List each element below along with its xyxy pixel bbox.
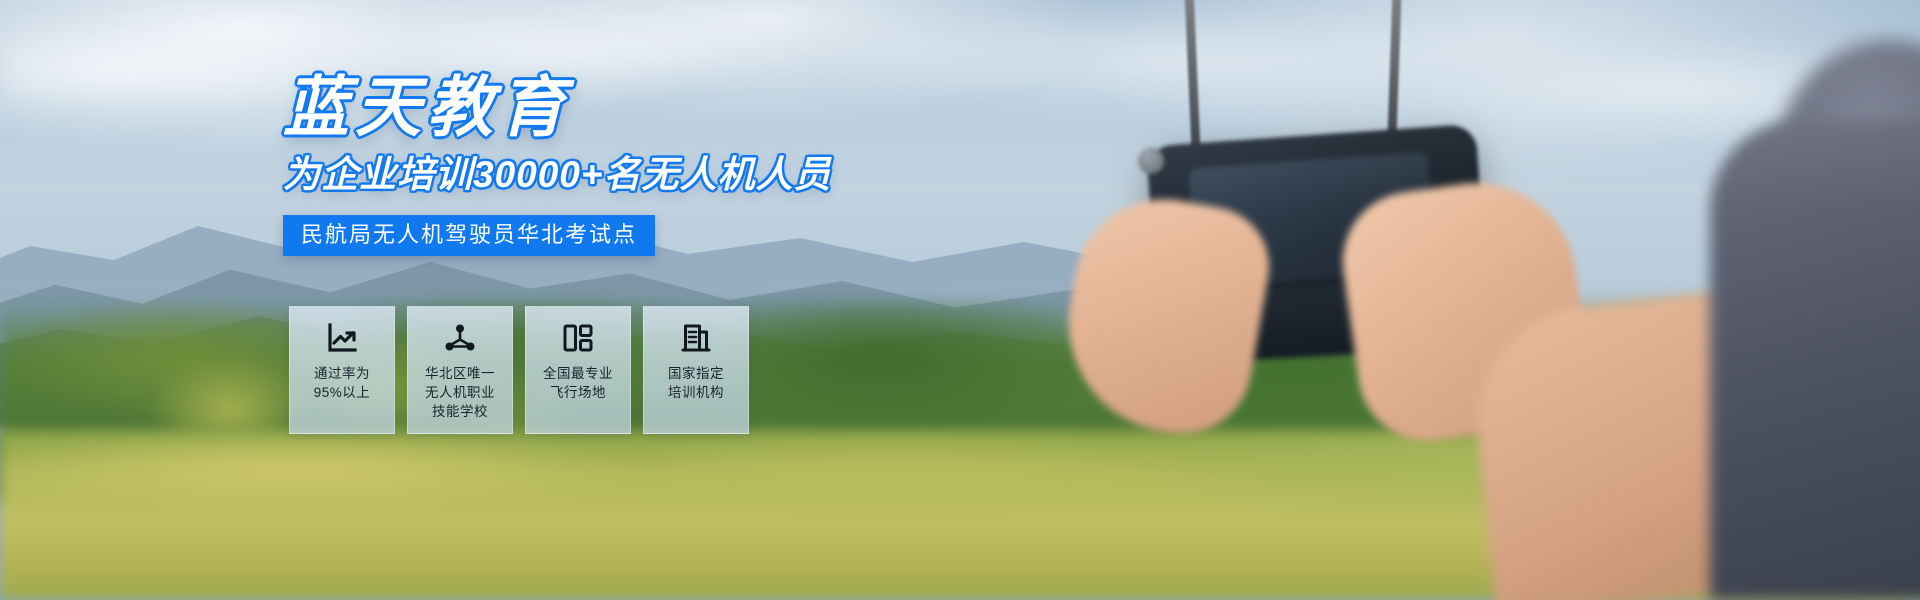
feature-card-text: 华北区唯一 无人机职业 技能学校 xyxy=(425,364,495,421)
hero-subheadline: 为企业培训30000+名无人机人员 xyxy=(283,156,1043,193)
network-nodes-icon xyxy=(443,321,477,355)
antenna-left xyxy=(1185,0,1201,150)
feature-card-national-institution[interactable]: 国家指定 培训机构 xyxy=(643,306,749,434)
pilot-with-controller xyxy=(920,0,1920,600)
certification-badge: 民航局无人机驾驶员华北考试点 xyxy=(283,215,655,256)
chart-trending-up-icon xyxy=(325,321,359,355)
feature-line: 国家指定 xyxy=(668,364,724,383)
feature-card-text: 国家指定 培训机构 xyxy=(668,364,724,402)
antenna-right xyxy=(1387,0,1401,140)
hero-text-block: 蓝天教育 为企业培训30000+名无人机人员 民航局无人机驾驶员华北考试点 xyxy=(283,74,1043,256)
feature-card-flight-field[interactable]: 全国最专业 飞行场地 xyxy=(525,306,631,434)
feature-line: 技能学校 xyxy=(425,402,495,421)
hero-headline: 蓝天教育 xyxy=(283,74,1043,140)
torso xyxy=(1710,120,1920,600)
feature-line: 全国最专业 xyxy=(543,364,613,383)
building-document-icon xyxy=(679,321,713,355)
hero-banner: 蓝天教育 为企业培训30000+名无人机人员 民航局无人机驾驶员华北考试点 通过… xyxy=(0,0,1920,600)
feature-card-pass-rate[interactable]: 通过率为 95%以上 xyxy=(289,306,395,434)
feature-line: 华北区唯一 xyxy=(425,364,495,383)
feature-card-vocational-school[interactable]: 华北区唯一 无人机职业 技能学校 xyxy=(407,306,513,434)
hand-left xyxy=(1051,185,1278,444)
transmitter-knob-left xyxy=(1138,148,1164,174)
feature-card-text: 通过率为 95%以上 xyxy=(314,364,371,402)
feature-card-text: 全国最专业 飞行场地 xyxy=(543,364,613,402)
feature-line: 飞行场地 xyxy=(543,383,613,402)
feature-line: 通过率为 xyxy=(314,364,371,383)
feature-line: 培训机构 xyxy=(668,383,724,402)
feature-line: 95%以上 xyxy=(314,383,371,402)
grid-layout-icon xyxy=(561,321,595,355)
feature-line: 无人机职业 xyxy=(425,383,495,402)
feature-card-list: 通过率为 95%以上 华北区唯一 无人机职业 技能学校 xyxy=(289,306,749,434)
